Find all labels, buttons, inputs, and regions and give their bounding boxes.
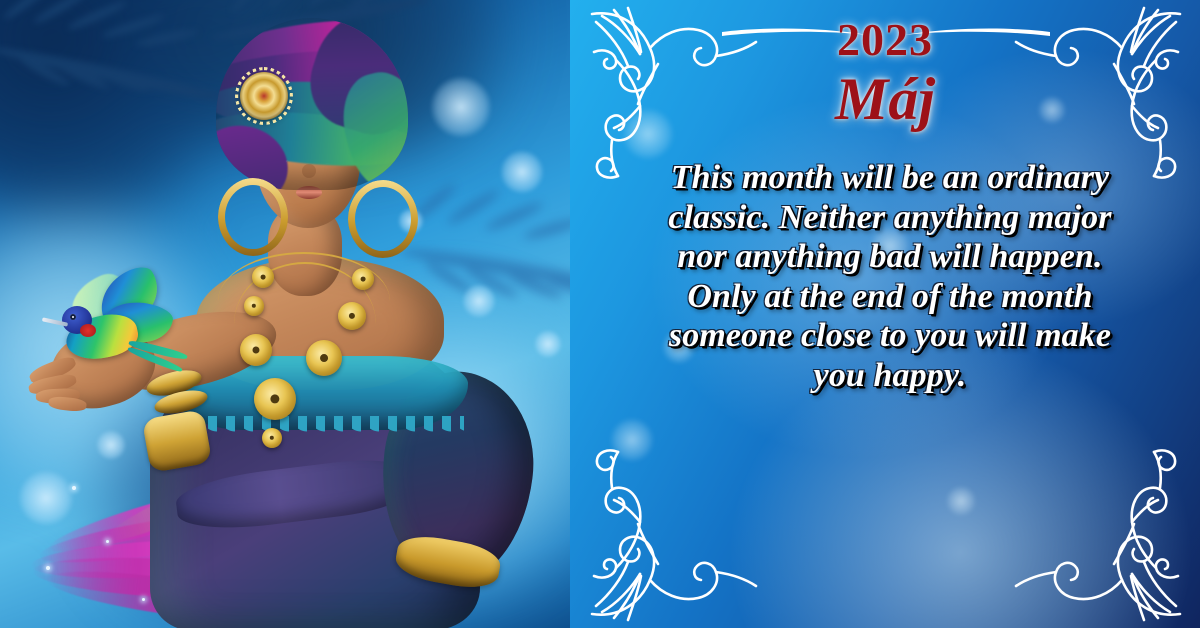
card-heading: 2023 Máj [570,16,1200,133]
sparkle [46,566,50,570]
necklace-disc [252,266,274,288]
turban-brooch [240,72,288,120]
hummingbird [40,272,170,378]
sparkle [72,486,76,490]
sparkle [142,598,145,601]
hummingbird-eye [70,314,76,320]
sparkle [106,540,109,543]
necklace-disc [306,340,342,376]
month-label: Máj [570,66,1200,133]
panel-bokeh [946,486,976,516]
necklace-disc [352,268,374,290]
forecast-text: This month will be an ordinary classic. … [642,158,1138,396]
necklace-pendant [254,378,296,420]
necklace-disc [244,296,264,316]
year-label: 2023 [570,16,1200,64]
horoscope-card: 2023 Máj This month will be an ordinary … [0,0,1200,628]
necklace-drop [262,428,282,448]
filigree-corner-icon [588,449,763,624]
woman-figure [0,0,600,628]
necklace-disc [338,302,366,330]
earring-right [348,180,418,258]
earring-left [218,178,288,256]
text-panel: 2023 Máj This month will be an ordinary … [570,0,1200,628]
filigree-corner-icon [1009,449,1184,624]
illustration-panel [0,0,600,628]
necklace-disc [240,334,272,366]
hummingbird-throat [80,324,96,337]
panel-bokeh [610,418,654,462]
